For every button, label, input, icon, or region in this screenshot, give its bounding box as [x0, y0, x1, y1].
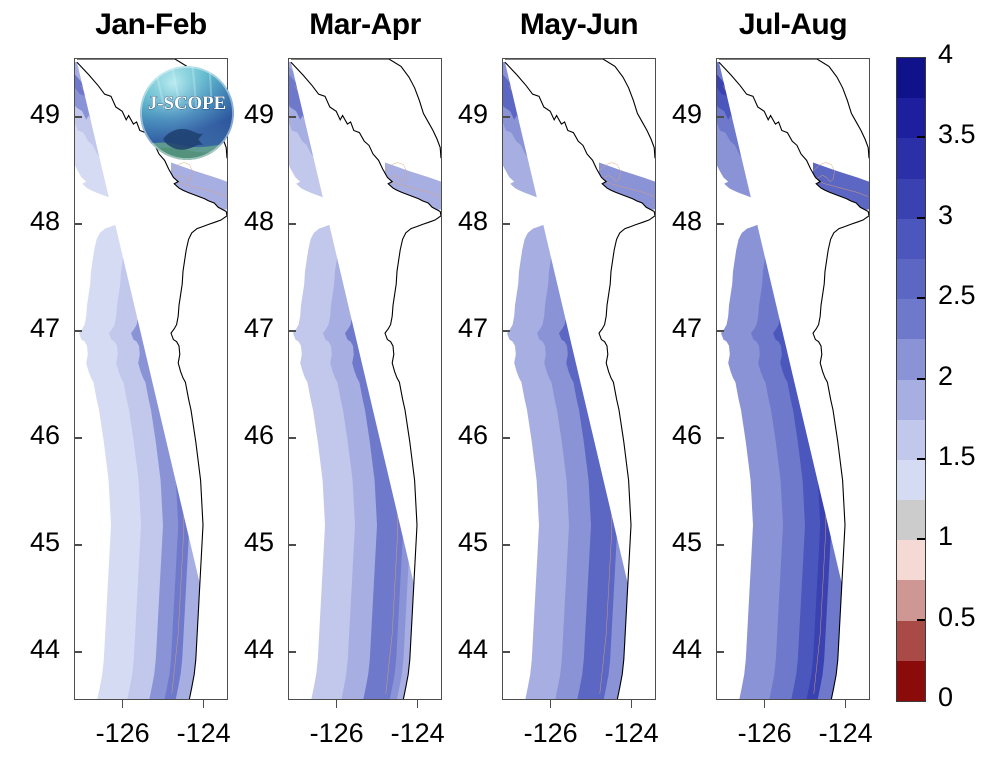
ytick-mark [74, 223, 82, 225]
colorbar-tick-label: 0.5 [938, 602, 976, 633]
colorbar-tick-label: 2.5 [938, 280, 976, 311]
colorbar-segment [897, 380, 925, 420]
colorbar-segment [897, 420, 925, 460]
panel-title-1: Jan-Feb [34, 8, 268, 42]
ytick-mark [288, 223, 296, 225]
xtick-mark [845, 700, 847, 708]
panel-title-3: May-Jun [462, 8, 696, 42]
colorbar-segment [897, 179, 925, 219]
ytick-label: 49 [640, 99, 702, 130]
colorbar-tick-label: 3.5 [938, 119, 976, 150]
xtick-mark [122, 700, 124, 708]
xtick-mark [203, 700, 205, 708]
ytick-label: 47 [212, 313, 274, 344]
ytick-mark [74, 437, 82, 439]
ytick-mark [502, 116, 510, 118]
colorbar-tick-label: 2 [938, 361, 953, 392]
ytick-label: 48 [640, 206, 702, 237]
ytick-label: 46 [640, 420, 702, 451]
ytick-label: 47 [0, 313, 60, 344]
ytick-mark [716, 437, 724, 439]
ytick-label: 44 [426, 634, 488, 665]
ytick-mark [502, 223, 510, 225]
jscope-logo-art: J-SCOPE [140, 66, 234, 160]
xtick-label: -124 [363, 718, 473, 749]
map-panel-4 [716, 58, 870, 700]
panel-title-4: Jul-Aug [676, 8, 910, 42]
ytick-mark [716, 651, 724, 653]
panel-title-2: Mar-Apr [248, 8, 482, 42]
colorbar-segment [897, 500, 925, 540]
map-field-3 [503, 59, 655, 699]
colorbar-tick [917, 619, 925, 621]
colorbar-segment [897, 58, 925, 98]
ytick-mark [74, 116, 82, 118]
ytick-mark [716, 330, 724, 332]
xtick-mark [336, 700, 338, 708]
ytick-mark [716, 116, 724, 118]
colorbar-tick [917, 458, 925, 460]
colorbar-segment [897, 138, 925, 178]
map-field-4 [717, 59, 869, 699]
colorbar-segment [897, 621, 925, 661]
ytick-mark [74, 651, 82, 653]
ytick-label: 45 [0, 527, 60, 558]
figure-canvas: Jan-Feb494847464544-126-124Mar-Apr494847… [0, 0, 1000, 761]
ytick-mark [288, 330, 296, 332]
ytick-mark [288, 437, 296, 439]
ytick-label: 46 [0, 420, 60, 451]
ytick-label: 46 [212, 420, 274, 451]
ytick-mark [288, 651, 296, 653]
ytick-label: 49 [426, 99, 488, 130]
colorbar-segment [897, 661, 925, 701]
ytick-label: 44 [0, 634, 60, 665]
ytick-label: 46 [426, 420, 488, 451]
ytick-label: 49 [0, 99, 60, 130]
ytick-label: 47 [426, 313, 488, 344]
ytick-mark [502, 544, 510, 546]
xtick-mark [764, 700, 766, 708]
xtick-label: -124 [149, 718, 259, 749]
ytick-mark [502, 437, 510, 439]
ytick-label: 48 [426, 206, 488, 237]
colorbar-segment [897, 259, 925, 299]
colorbar-tick [917, 538, 925, 540]
ytick-mark [288, 116, 296, 118]
ytick-label: 44 [640, 634, 702, 665]
colorbar-segment [897, 540, 925, 580]
ytick-label: 48 [212, 206, 274, 237]
colorbar-tick-label: 4 [938, 39, 953, 70]
ytick-mark [288, 544, 296, 546]
colorbar-tick [917, 136, 925, 138]
xtick-label: -124 [577, 718, 687, 749]
ytick-label: 47 [640, 313, 702, 344]
colorbar-segment [897, 580, 925, 620]
ytick-label: 45 [212, 527, 274, 558]
ytick-mark [716, 544, 724, 546]
colorbar-tick-label: 1.5 [938, 441, 976, 472]
ytick-label: 44 [212, 634, 274, 665]
map-panel-2 [288, 58, 442, 700]
xtick-mark [417, 700, 419, 708]
xtick-mark [550, 700, 552, 708]
colorbar-segment [897, 339, 925, 379]
colorbar-tick [917, 378, 925, 380]
ytick-label: 48 [0, 206, 60, 237]
xtick-mark [631, 700, 633, 708]
colorbar-segment [897, 299, 925, 339]
colorbar-tick-label: 0 [938, 682, 953, 713]
colorbar-tick-label: 3 [938, 200, 953, 231]
ytick-mark [502, 651, 510, 653]
colorbar-tick [917, 297, 925, 299]
map-panel-3 [502, 58, 656, 700]
jscope-logo-text: J-SCOPE [148, 93, 226, 114]
ytick-mark [502, 330, 510, 332]
ytick-label: 45 [640, 527, 702, 558]
colorbar [896, 57, 926, 702]
xtick-label: -124 [791, 718, 901, 749]
ytick-mark [74, 544, 82, 546]
colorbar-segment [897, 460, 925, 500]
ytick-mark [716, 223, 724, 225]
colorbar-tick [917, 217, 925, 219]
colorbar-tick-label: 1 [938, 521, 953, 552]
ytick-mark [74, 330, 82, 332]
colorbar-segment [897, 98, 925, 138]
colorbar-segment [897, 219, 925, 259]
map-field-2 [289, 59, 441, 699]
jscope-logo: J-SCOPE [140, 66, 234, 160]
ytick-label: 45 [426, 527, 488, 558]
